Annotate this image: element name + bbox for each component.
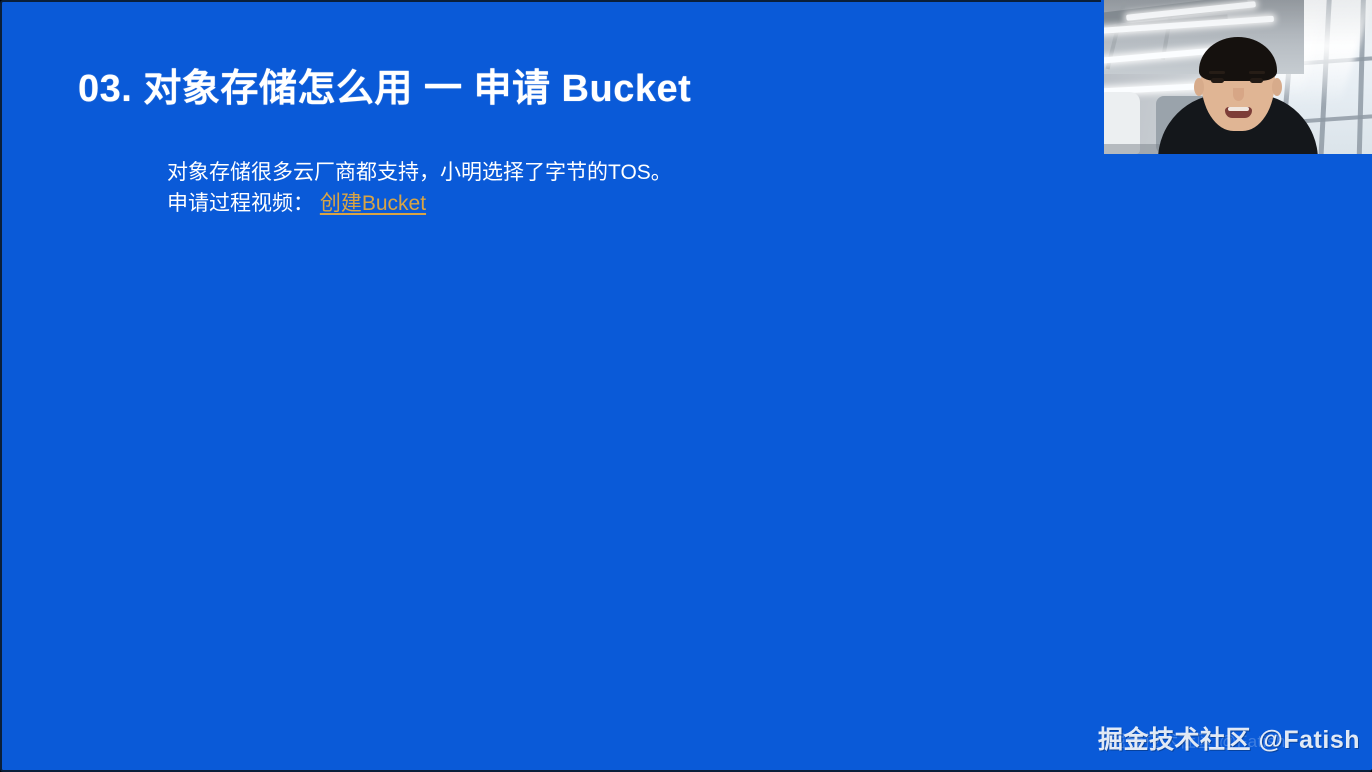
create-bucket-link[interactable]: 创建Bucket [320,192,426,215]
presenter-eye [1211,78,1224,83]
screen-capture: 03. 对象存储怎么用 一 申请 Bucket 对象存储很多云厂商都支持，小明选… [0,0,1372,772]
presenter-eyebrow [1209,71,1225,74]
presenter-ear [1194,78,1204,96]
presenter-ear [1272,78,1282,96]
slide-body-text: 对象存储很多云厂商都支持，小明选择了字节的TOS。 申请过程视频： 创建Buck… [167,157,672,219]
body-line-1: 对象存储很多云厂商都支持，小明选择了字节的TOS。 [167,157,672,188]
presenter-teeth [1228,107,1249,111]
webcam-overlay[interactable] [1101,0,1372,154]
page-title: 03. 对象存储怎么用 一 申请 Bucket [78,57,691,112]
video-link-label: 申请过程视频： [167,192,314,215]
body-line-2: 申请过程视频： 创建Bucket [167,188,672,219]
presenter-eye [1250,78,1263,83]
presenter-eyebrow [1249,71,1265,74]
webcam-video-frame [1104,0,1372,154]
presenter-nose [1233,88,1244,101]
watermark-primary: 掘金技术社区 @Fatish [1098,720,1360,756]
